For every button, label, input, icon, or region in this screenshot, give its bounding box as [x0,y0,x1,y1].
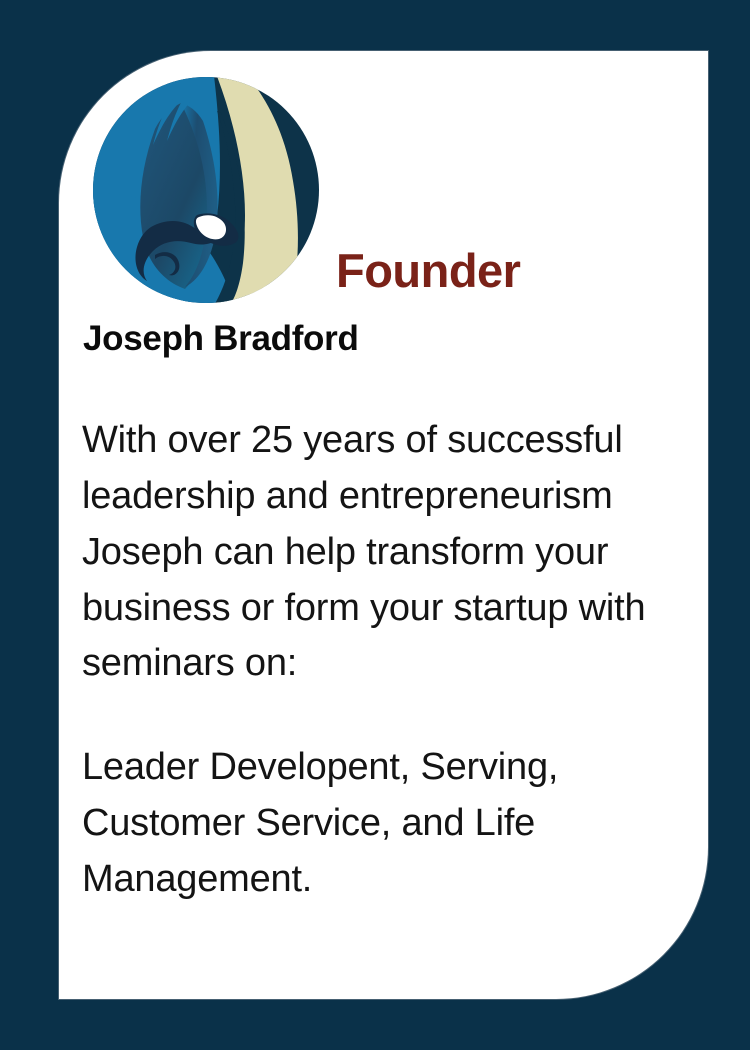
bio-paragraph-1: With over 25 years of successful leaders… [82,413,698,692]
role-title: Founder [336,247,520,294]
founder-profile-card: Founder Joseph Bradford With over 25 yea… [59,51,708,999]
person-name: Joseph Bradford [83,321,359,356]
pelican-bird-circle-logo-icon [93,77,319,303]
profile-card-canvas: Founder Joseph Bradford With over 25 yea… [0,0,750,1050]
bio-block: With over 25 years of successful leaders… [82,413,698,908]
bio-paragraph-2: Leader Developent, Serving, Customer Ser… [82,740,698,908]
